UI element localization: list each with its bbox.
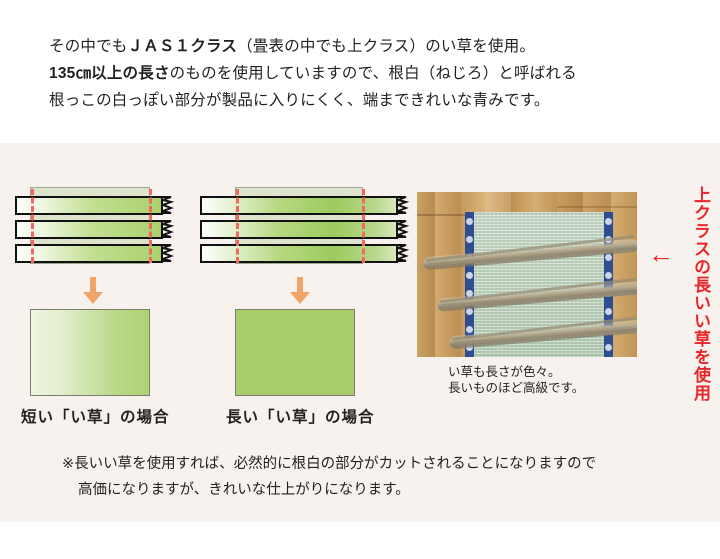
intro-line-1: その中でもＪＡＳ１クラス（畳表の中でも上クラス）のい草を使用。 [49,33,689,60]
intro-jas-class-emphasis: ＪＡＳ１クラス [128,38,238,55]
diagram-short-group: 短い「い草」の場合 [0,143,200,433]
illustration-panel: 短い「い草」の場合 [0,143,720,522]
grass-gradient-fill [202,198,396,213]
short-case-label: 短い「い草」の場合 [21,405,170,427]
arrow-down-icon [288,277,312,305]
zigzag-cut-icon [161,196,175,215]
premium-grass-callout: 上クラスの長いい草を使用 [684,186,710,402]
intro-length-emphasis: 135㎝以上の長さ [49,65,170,82]
zigzag-cut-icon [161,220,175,239]
photo-caption-line-2: 長いものほど高級です。 [448,380,584,396]
zigzag-cut-icon [396,244,410,263]
grass-gradient-fill [202,222,396,237]
long-grass-bar [200,244,398,263]
intro-line-2: 135㎝以上の長さのものを使用していますので、根白（ねじろ）と呼ばれる [49,60,689,87]
red-dashed-cut-line-icon [31,189,34,263]
grass-gradient-fill [17,222,161,237]
intro-line1-part-a: その中でも [49,38,128,55]
wood-plank [417,192,435,357]
igusa-rush-grass-on-tatami-photo [417,192,637,357]
zigzag-cut-icon [396,196,410,215]
grass-gradient-fill [202,246,396,261]
short-grass-bar [15,244,163,263]
page-root: その中でもＪＡＳ１クラス（畳表の中でも上クラス）のい草を使用。 135㎝以上の長… [0,0,720,559]
short-result-tatami [30,309,150,396]
intro-line-3: 根っこの白っぽい部分が製品に入りにくく、端まできれいな青みです。 [49,87,689,114]
grass-gradient-fill [17,246,161,261]
intro-line1-part-c: （畳表の中でも上クラス）のい草を使用。 [237,38,535,55]
arrow-down-icon [81,277,105,305]
wood-plank [435,192,461,357]
grass-gradient-fill [17,198,161,213]
footnote: ※長いい草を使用すれば、必然的に根白の部分がカットされることになりますので 高価… [62,451,692,503]
wood-seam [557,206,637,208]
left-arrow-icon: ← [648,241,674,267]
intro-paragraph: その中でもＪＡＳ１クラス（畳表の中でも上クラス）のい草を使用。 135㎝以上の長… [49,33,689,114]
intro-line2-part-b: のものを使用していますので、根白（ねじろ）と呼ばれる [170,65,577,82]
photo-caption-line-1: い草も長さが色々。 [448,364,584,380]
short-grass-bar [15,196,163,215]
footnote-line-2: 高価になりますが、きれいな仕上がりになります。 [62,477,692,503]
long-grass-bar [200,220,398,239]
zigzag-cut-icon [396,220,410,239]
zigzag-cut-icon [161,244,175,263]
red-dashed-cut-line-icon [149,189,152,263]
diagram-long-group: 長い「い草」の場合 [195,143,410,433]
footnote-line-1: ※長いい草を使用すれば、必然的に根白の部分がカットされることになりますので [62,451,692,477]
red-dashed-cut-line-icon [236,189,239,263]
long-grass-bar [200,196,398,215]
long-result-tatami [235,309,355,396]
red-dashed-cut-line-icon [362,189,365,263]
photo-caption: い草も長さが色々。 長いものほど高級です。 [448,364,584,396]
long-case-label: 長い「い草」の場合 [226,405,375,427]
short-grass-bar [15,220,163,239]
